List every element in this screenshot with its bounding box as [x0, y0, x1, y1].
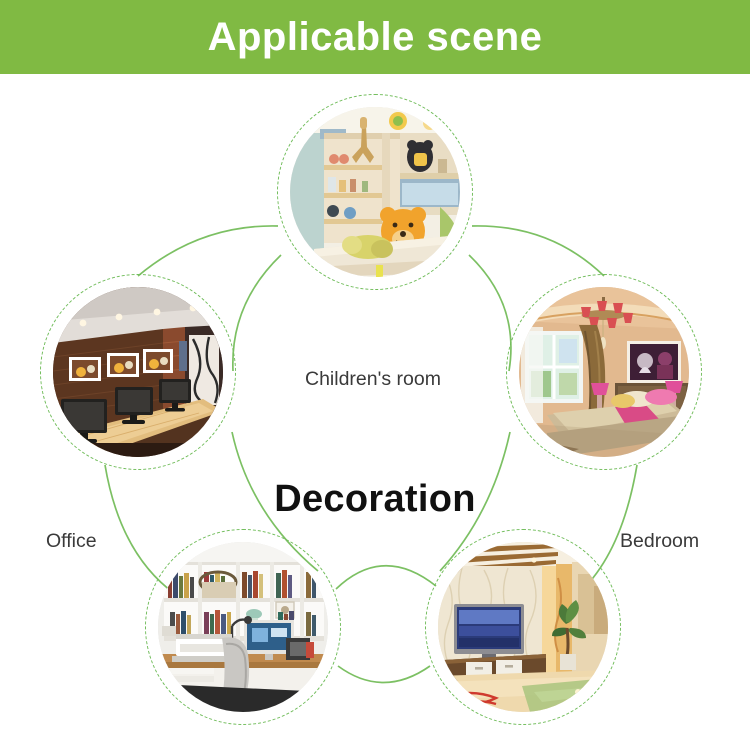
center-title: Decoration: [0, 480, 750, 518]
photo-study: [158, 542, 328, 712]
page-header: Applicable scene: [0, 0, 750, 74]
diagram-canvas: Children's room: [0, 74, 750, 750]
node-study[interactable]: [145, 529, 341, 725]
node-living-room[interactable]: [425, 529, 621, 725]
label-office: Office: [46, 532, 97, 552]
node-office[interactable]: [40, 274, 236, 470]
label-bedroom: Bedroom: [620, 532, 699, 552]
photo-office: [53, 287, 223, 457]
page-title: Applicable scene: [208, 17, 543, 57]
label-children-room: Children's room: [305, 370, 441, 390]
photo-bedroom: [519, 287, 689, 457]
photo-living-room: [438, 542, 608, 712]
node-children-room[interactable]: [277, 94, 473, 290]
scene-infographic: Applicable scene: [0, 0, 750, 750]
photo-children-room: [290, 107, 460, 277]
node-bedroom[interactable]: [506, 274, 702, 470]
